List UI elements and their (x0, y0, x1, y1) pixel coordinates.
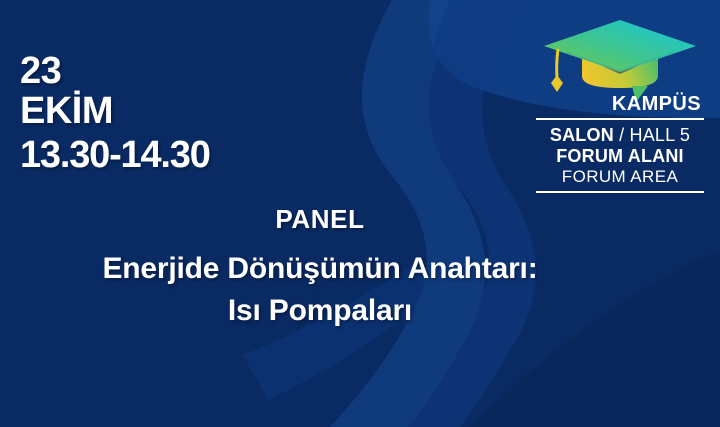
logo-brand-text: KAMPÜS (612, 94, 701, 114)
event-title-line-1: Enerjide Dönüşümün Anahtarı: (60, 248, 580, 291)
event-title: Enerjide Dönüşümün Anahtarı: Isı Pompala… (60, 248, 580, 333)
logo-hall-tr: SALON (550, 125, 614, 145)
event-type-label: PANEL (60, 205, 580, 234)
event-text-block: PANEL Enerjide Dönüşümün Anahtarı: Isı P… (60, 205, 580, 333)
logo-divider-top (536, 118, 704, 120)
event-date-block: 23 EKİM 13.30-14.30 (20, 52, 210, 179)
logo-area-tr: FORUM ALANI (536, 146, 704, 167)
logo-divider-bottom (536, 191, 704, 193)
kampus-logo: KAMPÜS SALON / HALL 5 FORUM ALANI FORUM … (536, 16, 704, 193)
event-day: 23 (20, 52, 210, 91)
logo-hall-line: SALON / HALL 5 (536, 125, 704, 146)
event-title-line-2: Isı Pompaları (60, 290, 580, 333)
logo-hall-separator: / (619, 125, 624, 145)
graduation-cap-wrap: KAMPÜS (536, 16, 704, 94)
logo-hall-en: HALL 5 (630, 125, 691, 145)
event-banner: 23 EKİM 13.30-14.30 PANEL Enerjide Dönüş… (0, 0, 720, 427)
logo-area-en: FORUM AREA (536, 167, 704, 187)
event-time: 13.30-14.30 (20, 132, 210, 180)
event-month: EKİM (20, 91, 210, 132)
graduation-cap-icon (536, 16, 704, 102)
